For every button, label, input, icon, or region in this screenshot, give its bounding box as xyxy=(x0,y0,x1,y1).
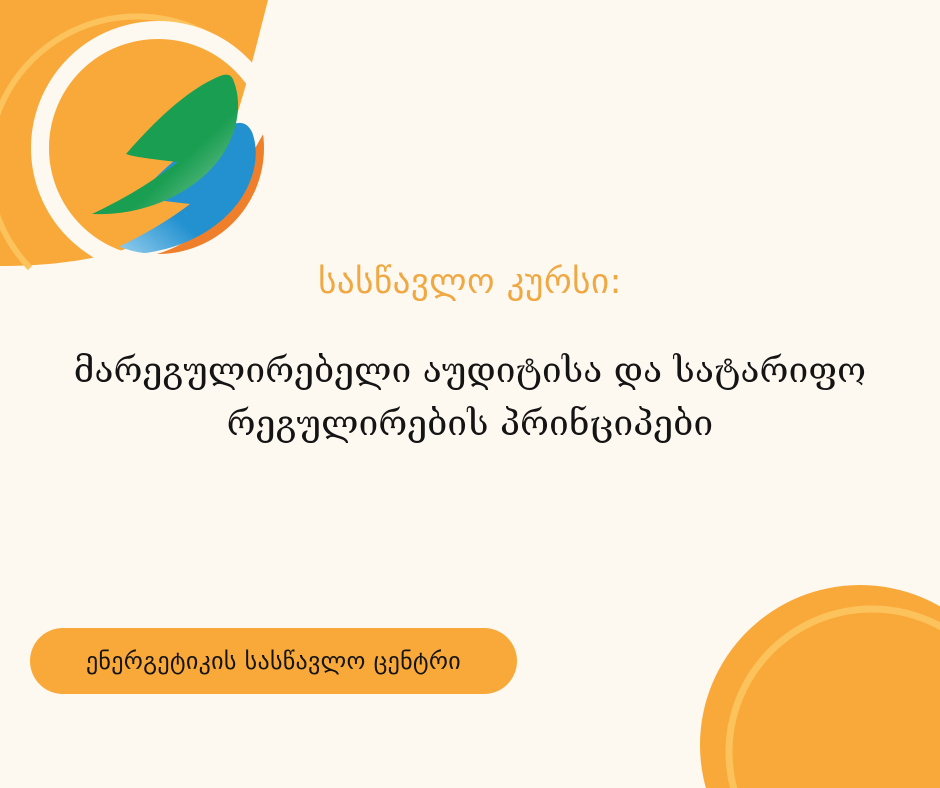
slide-text-content: სასწავლო კურსი: მარეგულირებელი აუდიტისა … xyxy=(0,262,940,452)
bottom-right-circle-core xyxy=(733,613,940,788)
bottom-right-orange-circle xyxy=(700,585,940,788)
organization-badge: ენერგეტიკის სასწავლო ცენტრი xyxy=(30,628,517,694)
page-title-line-2: რეგულირების პრინციპები xyxy=(70,398,870,451)
energy-center-logo-icon xyxy=(38,28,278,268)
bottom-right-circle-inner-ring xyxy=(729,609,940,788)
logo xyxy=(38,28,278,268)
course-announcement-slide: სასწავლო კურსი: მარეგულირებელი აუდიტისა … xyxy=(0,0,940,788)
organization-badge-label: ენერგეტიკის სასწავლო ცენტრი xyxy=(86,647,461,675)
page-title: მარეგულირებელი აუდიტისა და სატარიფო რეგუ… xyxy=(0,345,940,451)
title-spacer xyxy=(0,303,940,345)
page-title-line-1: მარეგულირებელი აუდიტისა და სატარიფო xyxy=(70,345,870,398)
kicker-label: სასწავლო კურსი: xyxy=(0,262,940,303)
